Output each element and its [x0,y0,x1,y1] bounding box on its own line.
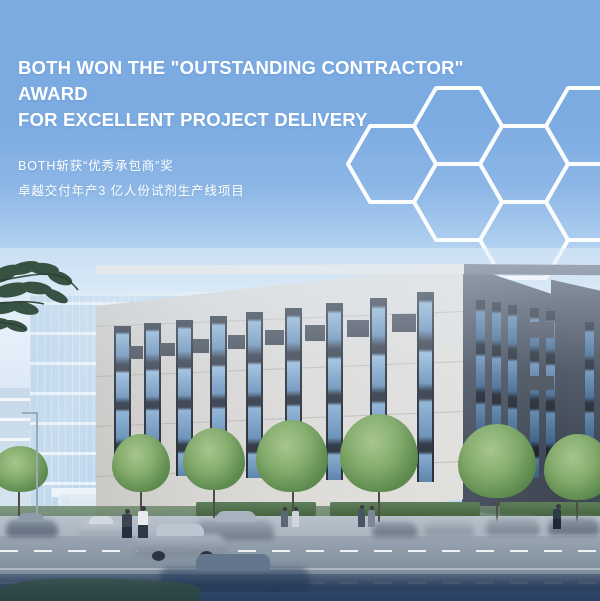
dark-parapet [462,264,600,276]
hedge-row [500,502,600,516]
page-title: BOTH WON THE "OUTSTANDING CONTRACTOR" AW… [18,55,538,133]
road-lane-marking [0,550,600,552]
banner-text-block: BOTH WON THE "OUTSTANDING CONTRACTOR" AW… [18,55,538,204]
subtitle-line-2: 卓越交付年产3 亿人份试剂生产线项目 [18,179,538,204]
architectural-render [0,248,600,601]
award-banner: BOTH WON THE "OUTSTANDING CONTRACTOR" AW… [0,0,600,601]
headline-line-1: BOTH WON THE "OUTSTANDING CONTRACTOR" AW… [18,55,538,107]
foreground-grass [0,578,200,601]
subtitle-block: BOTH斩获“优秀承包商”奖 卓越交付年产3 亿人份试剂生产线项目 [18,154,538,204]
branch-svg [0,252,100,342]
foreground-tree-branch [0,252,86,326]
headline-line-2: FOR EXCELLENT PROJECT DELIVERY [18,107,538,133]
hedge-row [330,502,480,516]
subtitle-line-1: BOTH斩获“优秀承包商”奖 [18,154,538,179]
stone-parapet [96,264,464,274]
